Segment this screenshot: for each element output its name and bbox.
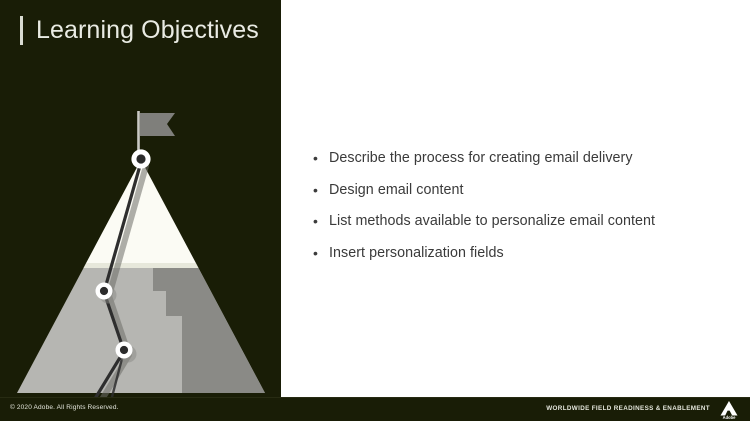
list-item-label: Design email content [329,180,464,201]
list-item: • Insert personalization fields [310,243,732,264]
bullet-icon: • [310,148,329,169]
mountain-illustration [0,0,281,397]
list-item: • Describe the process for creating emai… [310,148,732,169]
waypoint-marker-3-core [120,346,128,354]
bullet-icon: • [310,243,329,264]
page-title: Learning Objectives [20,14,259,46]
bullet-icon: • [310,211,329,232]
slide-footer: © 2020 Adobe. All Rights Reserved. WORLD… [0,397,750,421]
mountain-snowline [62,263,226,268]
svg-text:Adobe: Adobe [723,415,736,420]
list-item: • Design email content [310,180,732,201]
list-item: • List methods available to personalize … [310,211,732,232]
slide: Learning Objectives • Describe the proce… [0,0,750,421]
list-item-label: Describe the process for creating email … [329,148,633,169]
copyright-label: © 2020 Adobe. All Rights Reserved. [10,404,119,411]
left-dark-panel: Learning Objectives [0,0,281,397]
adobe-logo-icon: Adobe [716,399,742,420]
waypoint-marker-summit-core [136,154,145,163]
page-title-label: Learning Objectives [36,18,259,43]
bullet-icon: • [310,180,329,201]
content-panel: • Describe the process for creating emai… [281,0,750,397]
waypoint-marker-2-core [100,287,108,295]
list-item-label: Insert personalization fields [329,243,504,264]
learning-objectives-list: • Describe the process for creating emai… [310,148,732,274]
program-label: WORLDWIDE FIELD READINESS & ENABLEMENT [546,405,710,412]
footer-divider [0,397,750,398]
list-item-label: List methods available to personalize em… [329,211,655,232]
title-accent-bar [20,16,23,45]
flag-banner [140,113,175,136]
